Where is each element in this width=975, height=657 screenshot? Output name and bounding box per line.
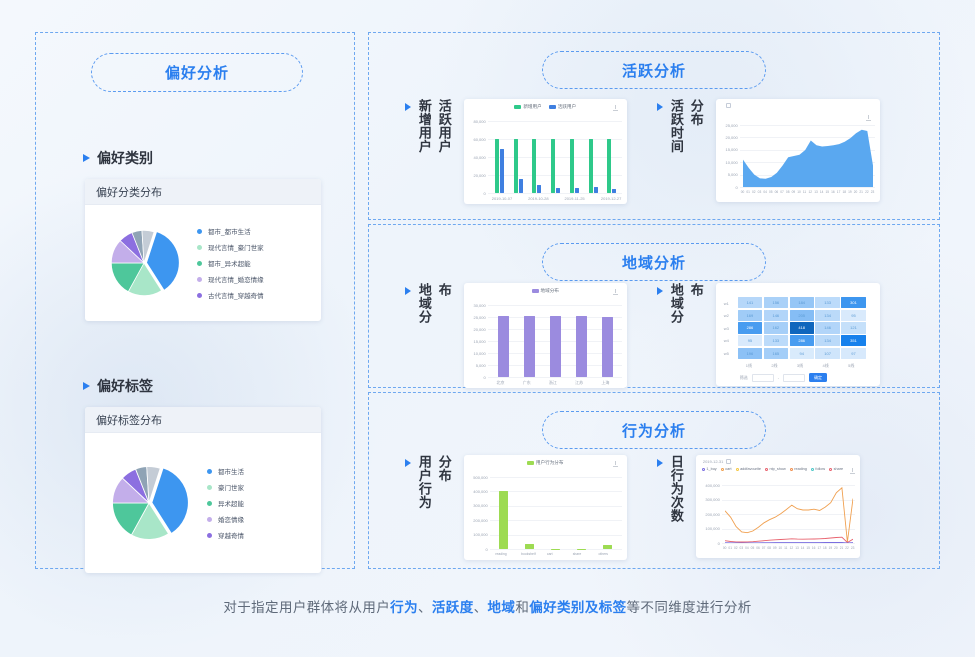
item-region-dist-bar: 地域分 布 地域分布 05,00010,00015,00020,00025,00…	[405, 283, 627, 388]
y-axis-tick: 0	[698, 541, 720, 546]
pie-svg-category	[101, 220, 187, 306]
legend-item[interactable]: 古代言情_穿越奇情	[197, 290, 264, 300]
item-label-b: 布	[688, 283, 704, 297]
x-axis-tick: 09	[773, 546, 777, 550]
legend-label: cart	[725, 467, 731, 471]
y-axis-tick: 25,000	[466, 315, 486, 320]
bar	[607, 139, 611, 193]
panel-preference-analysis: 偏好分析 偏好类别 偏好分类分布 都市_都市生活现代言情_豪门世家都市_异术超能…	[35, 32, 355, 569]
legend-item[interactable]: 豪门世家	[207, 482, 244, 492]
triangle-bullet-icon	[405, 103, 411, 111]
heatmap-cell[interactable]: 97	[841, 348, 865, 359]
x-axis-tick: cart	[547, 552, 553, 556]
bar	[576, 316, 587, 377]
y-axis-tick: 500,000	[466, 475, 488, 480]
line-series	[725, 537, 853, 542]
x-axis-tick: 10	[779, 546, 783, 550]
heatmap-row-label: w3	[724, 326, 729, 331]
chart-area-active-time: 05,00010,00015,00020,00025,0000001020304…	[716, 99, 880, 202]
heatmap-cell[interactable]: 107	[815, 348, 839, 359]
heatmap-row-label: w4	[724, 338, 729, 343]
legend-item[interactable]: 婚恋情缘	[207, 514, 244, 524]
heatmap-cell[interactable]: 95	[841, 310, 865, 321]
legend-dot-icon	[197, 293, 202, 298]
page-caption: 对于指定用户群体将从用户行为、活跃度、地域和偏好类别及标签等不同维度进行分析	[0, 596, 975, 616]
legend-item[interactable]: 都市生活	[207, 466, 244, 476]
item-label-a: 活跃时间	[668, 99, 684, 153]
legend-label: follow	[815, 467, 825, 471]
heatmap-cell[interactable]: 134	[815, 335, 839, 346]
legend-label: 都市_异术超能	[208, 258, 251, 268]
x-axis-tick: share	[573, 552, 581, 556]
heatmap-cell[interactable]: 133	[764, 335, 788, 346]
bar	[551, 549, 560, 550]
bar	[532, 139, 536, 193]
pie-legend-category: 都市_都市生活现代言情_豪门世家都市_异术超能现代言情_婚恋情缘古代言情_穿越奇…	[197, 226, 264, 300]
x-axis-tick: 09	[792, 190, 796, 194]
heatmap-row-label: w2	[724, 313, 729, 318]
x-axis-tick: 10	[797, 190, 801, 194]
x-axis-tick: 15	[826, 190, 830, 194]
chart-legend: 用户行为分布	[464, 460, 627, 466]
item-label-a: 用户行为	[416, 455, 432, 509]
y-axis-tick: 20,000	[466, 173, 486, 178]
item-new-active-users: 新增用户 活跃用户 新增用户活跃用户 020,00040,00060,00080…	[405, 99, 627, 204]
x-axis-tick: 14	[820, 190, 824, 194]
legend-item[interactable]: ntp_show	[765, 467, 786, 471]
heatmap-col-label: 4线	[823, 363, 829, 369]
x-axis-tick: 2019-10-28	[528, 196, 548, 201]
panel-behavior-analysis: 行为分析 用户行为 分布 用户行为分布 0100,000200,000300,0…	[368, 392, 940, 569]
x-axis-tick: 01	[728, 546, 732, 550]
x-axis-tick: 19	[829, 546, 833, 550]
legend-item[interactable]: follow	[811, 467, 825, 471]
x-axis-tick: 08	[786, 190, 790, 194]
x-axis-tick: 01	[746, 190, 750, 194]
heatmap-cell[interactable]: 146	[764, 310, 788, 321]
item-label-b: 分布	[436, 455, 452, 482]
calendar-icon	[726, 103, 731, 108]
x-axis-tick: 22	[865, 190, 869, 194]
x-axis-tick: 07	[762, 546, 766, 550]
section-label: 偏好类别	[97, 148, 153, 168]
x-axis-tick: 18	[823, 546, 827, 550]
legend-label: 1_buy	[706, 467, 716, 471]
legend-item[interactable]: 活跃用户	[549, 104, 576, 110]
y-axis-tick: 200,000	[466, 518, 488, 523]
heatmap-cell[interactable]: 418	[790, 322, 814, 333]
bar	[575, 188, 579, 193]
legend-dot-icon	[207, 533, 212, 538]
y-axis-tick: 15,000	[718, 147, 738, 152]
x-axis-tick: 05	[769, 190, 773, 194]
caption-keyword-activity: 活跃度	[432, 600, 474, 615]
x-axis-tick: 19	[848, 190, 852, 194]
chart-line-daily-behavior: 2019-12-31 1_buycartaddfavouritentp_show…	[696, 455, 860, 558]
legend-dot-icon	[197, 229, 202, 234]
legend-item[interactable]: 都市_异术超能	[197, 258, 264, 268]
y-axis-tick: 400,000	[698, 483, 720, 488]
item-label-a: 日行为次数	[668, 455, 684, 523]
legend-dot-icon	[765, 468, 768, 471]
item-active-time-dist: 活跃时间 分布 05,00010,00015,00020,00025,00000…	[657, 99, 880, 202]
heatmap-col-label: 1线	[746, 363, 752, 369]
item-label-b: 活跃用户	[436, 99, 452, 153]
filter-confirm-button[interactable]: 确定	[809, 373, 827, 382]
panel-title-preference: 偏好分析	[91, 53, 303, 92]
legend-dot-icon	[721, 468, 724, 471]
y-axis-tick: 5,000	[466, 363, 486, 368]
heatmap-col-label: 3线	[797, 363, 803, 369]
legend-swatch-icon	[532, 289, 539, 293]
x-axis-tick: 15	[806, 546, 810, 550]
date-filter[interactable]	[723, 103, 731, 108]
pie-svg-tag	[101, 455, 197, 551]
bar	[525, 544, 534, 549]
legend-dot-icon	[207, 501, 212, 506]
item-label-a: 新增用户	[416, 99, 432, 153]
chart-legend: 地域分布	[464, 288, 627, 294]
bar	[556, 188, 560, 193]
download-icon[interactable]	[866, 115, 872, 122]
panel-active-analysis: 活跃分析 新增用户 活跃用户 新增用户活跃用户 020,00040,00060,…	[368, 32, 940, 220]
x-axis-tick: 23	[871, 190, 875, 194]
triangle-bullet-icon	[83, 154, 90, 162]
y-axis-tick: 20,000	[718, 135, 738, 140]
x-axis-tick: 13	[795, 546, 799, 550]
gridline	[740, 187, 875, 188]
x-axis-tick: 02	[752, 190, 756, 194]
x-axis-tick: 14	[801, 546, 805, 550]
bar	[514, 139, 518, 193]
heatmap-cell[interactable]: 286	[738, 322, 762, 333]
heatmap-cell[interactable]: 184	[790, 297, 814, 308]
y-axis-tick: 0	[466, 375, 486, 380]
legend-item[interactable]: cart	[721, 467, 732, 471]
card-title: 偏好标签分布	[85, 407, 321, 433]
legend-label: 都市_都市生活	[208, 226, 251, 236]
chart-bar-new-active-users: 新增用户活跃用户 020,00040,00060,00080,0002019-1…	[464, 99, 627, 204]
x-axis-tick: 广东	[523, 380, 531, 386]
heatmap-cell[interactable]: 134	[815, 310, 839, 321]
line-series	[725, 542, 853, 543]
bar	[550, 316, 561, 377]
download-icon[interactable]	[613, 461, 619, 468]
panel-title-region: 地域分析	[542, 243, 766, 281]
heatmap-row-label: w5	[724, 351, 729, 356]
x-axis-tick: 18	[842, 190, 846, 194]
card-preference-category-chart: 偏好分类分布 都市_都市生活现代言情_豪门世家都市_异术超能现代言情_婚恋情缘古…	[85, 179, 321, 321]
legend-item[interactable]: share	[829, 467, 843, 471]
legend-label: 穿越奇情	[218, 530, 244, 540]
area-plot	[743, 125, 873, 187]
chart-legend: 新增用户活跃用户	[464, 104, 627, 110]
x-axis-tick: 16	[812, 546, 816, 550]
heatmap-grid: 1411561841333011691462051349528616241814…	[738, 297, 866, 359]
chart-heatmap-region: 1411561841333011691462051349528616241814…	[716, 283, 880, 386]
bar	[495, 139, 499, 193]
x-axis-tick: 16	[831, 190, 835, 194]
y-axis-tick: 0	[718, 185, 738, 190]
chart-pie-category: 都市_都市生活现代言情_豪门世家都市_异术超能现代言情_婚恋情缘古代言情_穿越奇…	[85, 205, 321, 321]
heatmap-cell[interactable]: 156	[764, 297, 788, 308]
triangle-bullet-icon	[405, 459, 411, 467]
heatmap-cell[interactable]: 146	[815, 322, 839, 333]
panel-title-active: 活跃分析	[542, 51, 766, 89]
date-value: 2019-12-31	[703, 459, 723, 464]
x-axis-tick: 05	[751, 546, 755, 550]
legend-label: 新增用户	[523, 104, 541, 110]
x-axis-tick: 江苏	[575, 380, 583, 386]
panel-title-behavior: 行为分析	[542, 411, 766, 449]
gridline	[488, 193, 622, 194]
filter-min-input[interactable]	[752, 374, 774, 382]
x-axis-tick: 2019-11-25	[564, 196, 584, 201]
x-axis-tick: 07	[780, 190, 784, 194]
download-icon[interactable]	[850, 468, 856, 475]
bar	[589, 139, 593, 193]
x-axis-tick: bookshelf	[521, 552, 536, 556]
legend-label: 现代言情_婚恋情缘	[208, 274, 264, 284]
y-axis-tick: 60,000	[466, 137, 486, 142]
triangle-bullet-icon	[405, 287, 411, 295]
gridline	[490, 549, 622, 550]
caption-part-5: 等不同维度进行分析	[627, 600, 752, 615]
y-axis-tick: 80,000	[466, 119, 486, 124]
y-axis-tick: 100,000	[466, 532, 488, 537]
x-axis-tick: 11	[784, 546, 787, 550]
bar	[551, 139, 555, 193]
card-title: 偏好分类分布	[85, 179, 321, 205]
legend-item[interactable]: reading	[790, 467, 807, 471]
date-filter[interactable]: 2019-12-31	[703, 459, 731, 464]
heatmap-cell[interactable]: 165	[764, 348, 788, 359]
x-axis-tick: 20	[834, 546, 838, 550]
x-axis-tick: 03	[758, 190, 762, 194]
triangle-bullet-icon	[657, 287, 663, 295]
heatmap-cell[interactable]: 141	[738, 297, 762, 308]
bar	[524, 316, 535, 377]
plot-area	[490, 121, 621, 193]
legend-label: 异术超能	[218, 498, 244, 508]
legend-label: 古代言情_穿越奇情	[208, 290, 264, 300]
heatmap-col-label: 5线	[848, 363, 854, 369]
filter-max-input[interactable]	[783, 374, 805, 382]
heatmap-cell[interactable]: 121	[841, 322, 865, 333]
x-axis-tick: reading	[495, 552, 506, 556]
x-axis-tick: 02	[734, 546, 738, 550]
y-axis-tick: 30,000	[466, 303, 486, 308]
x-axis-tick: 20	[854, 190, 858, 194]
heatmap-cell[interactable]: 286	[790, 335, 814, 346]
item-user-behavior-dist: 用户行为 分布 用户行为分布 0100,000200,000300,000400…	[405, 455, 627, 560]
x-axis-tick: 浙江	[549, 380, 557, 386]
caption-part-3: 、	[474, 600, 488, 615]
heatmap-cell[interactable]: 94	[790, 348, 814, 359]
card-preference-tag-chart: 偏好标签分布 都市生活豪门世家异术超能婚恋情缘穿越奇情	[85, 407, 321, 573]
x-axis-tick: 13	[814, 190, 818, 194]
y-axis-tick: 400,000	[466, 489, 488, 494]
chart-legend: 1_buycartaddfavouritentp_showreadingfoll…	[702, 467, 854, 471]
legend-dot-icon	[207, 485, 212, 490]
plot-area	[492, 477, 621, 549]
item-label-a: 地域分	[416, 283, 432, 324]
legend-dot-icon	[197, 261, 202, 266]
item-label-b: 布	[436, 283, 452, 297]
line-series	[725, 488, 853, 542]
y-axis-tick: 20,000	[466, 327, 486, 332]
legend-item[interactable]: 现代言情_婚恋情缘	[197, 274, 264, 284]
heatmap-cell[interactable]: 205	[790, 310, 814, 321]
calendar-icon	[726, 459, 731, 464]
filter-label: 筛选	[740, 375, 748, 381]
y-axis-tick: 15,000	[466, 339, 486, 344]
y-axis-tick: 300,000	[466, 503, 488, 508]
bar	[603, 545, 612, 549]
x-axis-tick: 04	[763, 190, 767, 194]
y-axis-tick: 10,000	[466, 351, 486, 356]
legend-dot-icon	[207, 469, 212, 474]
x-axis-tick: 06	[775, 190, 779, 194]
legend-swatch-icon	[549, 105, 556, 109]
y-axis-tick: 5,000	[718, 172, 738, 177]
line-plot	[725, 485, 853, 543]
x-axis-tick: 11	[803, 190, 806, 194]
x-axis-tick: 21	[859, 190, 863, 194]
item-region-dist-heatmap: 地域分 布 1411561841333011691462051349528616…	[657, 283, 880, 386]
y-axis-tick: 25,000	[718, 123, 738, 128]
legend-label: 用户行为分布	[536, 460, 564, 466]
x-axis-tick: 17	[837, 190, 841, 194]
heatmap-cell[interactable]: 162	[764, 322, 788, 333]
area-fill	[743, 130, 873, 187]
y-axis-tick: 40,000	[466, 155, 486, 160]
download-icon[interactable]	[613, 105, 619, 112]
bar	[570, 139, 574, 193]
legend-label: 现代言情_豪门世家	[208, 242, 264, 252]
x-axis-tick: 北京	[497, 380, 505, 386]
legend-item[interactable]: 1_buy	[702, 467, 717, 471]
legend-item[interactable]: 用户行为分布	[527, 460, 564, 466]
page-root: 偏好分析 偏好类别 偏好分类分布 都市_都市生活现代言情_豪门世家都市_异术超能…	[0, 0, 975, 657]
x-axis-tick: others	[599, 552, 608, 556]
gridline	[488, 377, 622, 378]
chart-pie-tag: 都市生活豪门世家异术超能婚恋情缘穿越奇情	[85, 433, 321, 573]
x-axis-tick: 2019-12-27	[601, 196, 621, 201]
bar	[537, 185, 541, 193]
plot-area	[490, 305, 621, 377]
legend-swatch-icon	[514, 105, 521, 109]
x-axis-tick: 04	[745, 546, 749, 550]
legend-label: 活跃用户	[558, 104, 576, 110]
heatmap-cell[interactable]: 95	[738, 335, 762, 346]
bar	[500, 149, 504, 193]
x-axis-tick: 00	[741, 190, 745, 194]
bar	[577, 549, 586, 550]
x-axis-tick: 2019-10-07	[492, 196, 512, 201]
panel-region-analysis: 地域分析 地域分 布 地域分布 05,00010,00015,00020,000…	[368, 224, 940, 388]
legend-item[interactable]: 现代言情_豪门世家	[197, 242, 264, 252]
legend-dot-icon	[829, 468, 832, 471]
filter-separator: -	[778, 375, 779, 380]
legend-label: 豪门世家	[218, 482, 244, 492]
pie-legend-tag: 都市生活豪门世家异术超能婚恋情缘穿越奇情	[207, 466, 244, 540]
y-axis-tick: 100,000	[698, 526, 720, 531]
x-axis-tick: 22	[845, 546, 849, 550]
bar	[594, 187, 598, 193]
section-label: 偏好标签	[97, 376, 153, 396]
y-axis-tick: 200,000	[698, 512, 720, 517]
legend-label: ntp_show	[769, 467, 785, 471]
heatmap-cell[interactable]: 169	[738, 310, 762, 321]
download-icon[interactable]	[613, 289, 619, 296]
bar	[499, 491, 508, 549]
legend-label: 婚恋情缘	[218, 514, 244, 524]
section-preference-category: 偏好类别	[83, 148, 153, 168]
heatmap-cell[interactable]: 351	[841, 335, 865, 346]
legend-item[interactable]: 都市_都市生活	[197, 226, 264, 236]
x-axis-tick: 08	[767, 546, 771, 550]
caption-keyword-behavior: 行为	[390, 600, 418, 615]
caption-part-2: 、	[418, 600, 432, 615]
legend-dot-icon	[197, 245, 202, 250]
legend-dot-icon	[197, 277, 202, 282]
x-axis-tick: 23	[851, 546, 855, 550]
legend-item[interactable]: 地域分布	[532, 288, 559, 294]
chart-bar-user-behavior: 用户行为分布 0100,000200,000300,000400,000500,…	[464, 455, 627, 560]
item-label-b: 分布	[688, 99, 704, 126]
x-axis-tick: 06	[756, 546, 760, 550]
heatmap-col-label: 2线	[771, 363, 777, 369]
legend-item[interactable]: addfavourite	[736, 467, 761, 471]
y-axis-tick: 10,000	[718, 160, 738, 165]
item-daily-behavior-count: 日行为次数 2019-12-31 1_buycartaddfavouritent…	[657, 455, 860, 558]
item-label-a: 地域分	[668, 283, 684, 324]
caption-part-1: 对于指定用户群体将从用户	[223, 600, 390, 615]
legend-item[interactable]: 穿越奇情	[207, 530, 244, 540]
x-axis-tick: 21	[840, 546, 844, 550]
legend-dot-icon	[811, 468, 814, 471]
legend-item[interactable]: 新增用户	[514, 104, 541, 110]
x-axis-tick: 03	[740, 546, 744, 550]
y-axis-tick: 0	[466, 547, 488, 552]
legend-label: 地域分布	[541, 288, 559, 294]
y-axis-tick: 0	[466, 191, 486, 196]
legend-dot-icon	[702, 468, 705, 471]
x-axis-tick: 17	[817, 546, 821, 550]
heatmap-cell[interactable]: 301	[841, 297, 865, 308]
heatmap-cell[interactable]: 133	[815, 297, 839, 308]
caption-keyword-region: 地域	[488, 600, 516, 615]
legend-label: addfavourite	[740, 467, 761, 471]
x-axis-tick: 12	[809, 190, 813, 194]
legend-swatch-icon	[527, 461, 534, 465]
legend-label: 都市生活	[218, 466, 244, 476]
bar	[519, 179, 523, 193]
legend-item[interactable]: 异术超能	[207, 498, 244, 508]
gridline	[722, 543, 855, 544]
heatmap-filter-controls: 筛选-确定	[740, 373, 827, 382]
triangle-bullet-icon	[83, 382, 90, 390]
heatmap-cell[interactable]: 196	[738, 348, 762, 359]
x-axis-tick: 12	[790, 546, 794, 550]
section-preference-tag: 偏好标签	[83, 376, 153, 396]
heatmap-row-label: w1	[724, 301, 729, 306]
triangle-bullet-icon	[657, 459, 663, 467]
y-axis-tick: 300,000	[698, 497, 720, 502]
bar	[612, 189, 616, 193]
caption-keyword-preference: 偏好类别及标签	[529, 600, 626, 615]
